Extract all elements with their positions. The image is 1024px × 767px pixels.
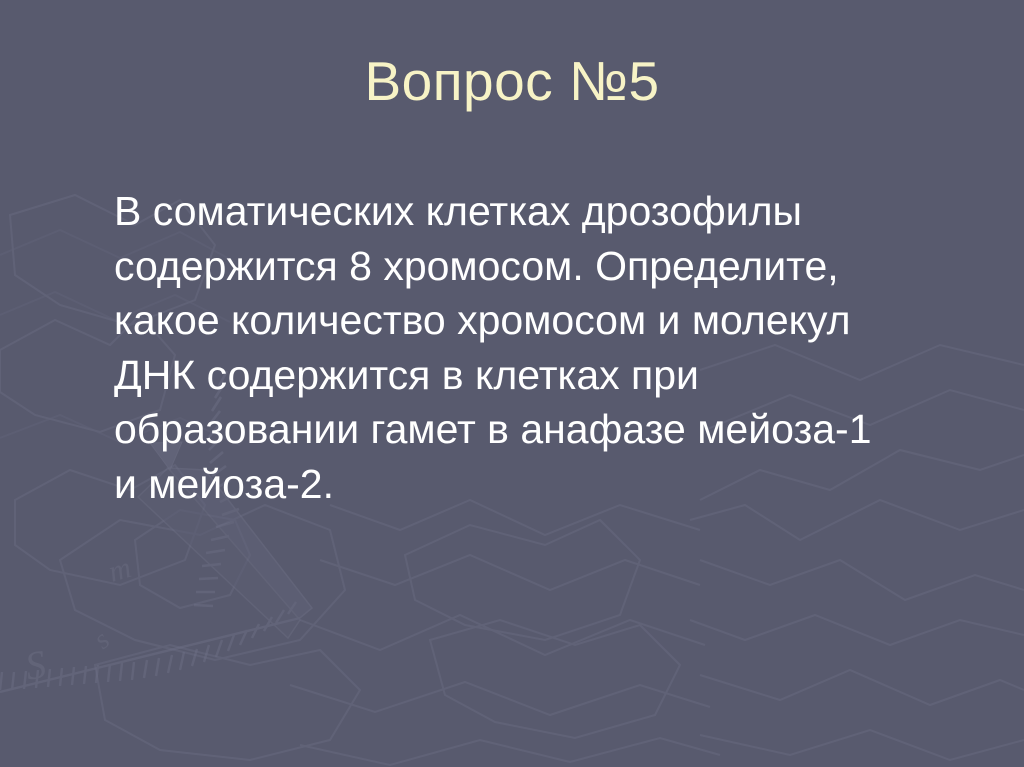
presentation-slide: S m s Вопрос №5 В соматических клетках д…	[0, 0, 1024, 767]
slide-title: Вопрос №5	[0, 52, 1024, 111]
svg-text:m: m	[105, 551, 135, 589]
slide-title-text: Вопрос №5	[364, 52, 659, 111]
body-line: ДНК содержится в клетках при	[114, 348, 984, 403]
svg-text:S: S	[22, 641, 50, 689]
body-line: В соматических клетках дрозофилы	[114, 184, 984, 239]
body-line: какое количество хромосом и молекул	[114, 293, 984, 348]
body-line: и мейоза-2.	[114, 457, 984, 512]
slide-body: В соматических клетках дрозофилы содержи…	[114, 184, 984, 511]
svg-text:s: s	[88, 625, 116, 656]
body-line: содержится 8 хромосом. Определите,	[114, 239, 984, 294]
body-line: образовании гамет в анафазе мейоза-1	[114, 402, 984, 457]
